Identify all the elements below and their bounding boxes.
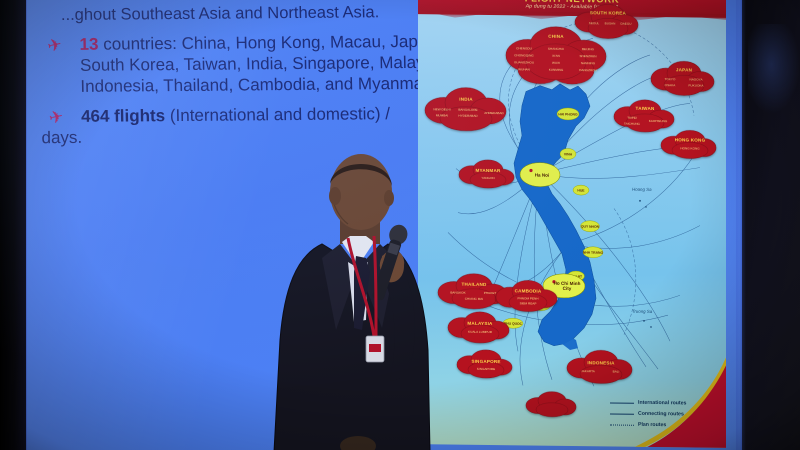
cloud-india: INDIA NEW DELHI MUMBAI BANGALORE HYDERAB… <box>425 87 506 131</box>
cloud-hong-kong: HONG KONG HONG KONG <box>661 130 716 159</box>
svg-text:DAEGU: DAEGU <box>620 22 631 26</box>
svg-text:CHONGQING: CHONGQING <box>514 53 534 57</box>
svg-text:KUALA LUMPUR: KUALA LUMPUR <box>468 330 493 334</box>
svg-text:MUMBAI: MUMBAI <box>436 113 449 117</box>
cloud-singapore: SINGAPORE SINGAPORE <box>457 350 512 379</box>
svg-text:SIEM REAP: SIEM REAP <box>520 301 537 305</box>
svg-text:SHANGHAI: SHANGHAI <box>548 47 564 51</box>
svg-text:CAMBODIA: CAMBODIA <box>515 288 542 293</box>
cloud-japan: JAPAN TOKYO OSAKA NAGOYA FUKUOKA <box>651 61 714 96</box>
svg-text:PHUKET: PHUKET <box>484 291 497 295</box>
wall-light-glow <box>748 24 800 114</box>
svg-text:GUANGZHOU: GUANGZHOU <box>514 60 534 64</box>
svg-text:INDIA: INDIA <box>459 97 473 102</box>
svg-text:MALAYSIA: MALAYSIA <box>467 321 493 326</box>
city-hue: HUE <box>573 185 589 195</box>
flight-network-map: FLIGHT NETWORK Ap dung tu 2022 - Availab… <box>418 0 726 448</box>
corner-swoosh-decoration <box>596 340 726 448</box>
svg-text:HONG KONG: HONG KONG <box>675 137 706 142</box>
svg-text:CHENGDU: CHENGDU <box>516 46 532 50</box>
svg-text:CHINA: CHINA <box>548 34 564 39</box>
svg-text:VINH: VINH <box>564 152 573 156</box>
svg-text:WUXI: WUXI <box>552 61 560 65</box>
svg-text:TAIWAN: TAIWAN <box>636 106 655 111</box>
cloud-myanmar: MYANMAR YANGON <box>459 160 514 189</box>
svg-text:BANGALORE: BANGALORE <box>458 108 477 112</box>
svg-text:BEIJING: BEIJING <box>582 47 595 51</box>
svg-text:NAGOYA: NAGOYA <box>689 77 703 81</box>
dark-room-left <box>0 0 26 450</box>
svg-text:SEOUL: SEOUL <box>589 21 600 25</box>
svg-text:NANNING: NANNING <box>581 61 596 65</box>
speaker-figure <box>262 140 462 450</box>
svg-text:KAOHSIUNG: KAOHSIUNG <box>649 119 668 123</box>
presentation-photo: the route network ...ghout Southeast Asi… <box>0 0 800 450</box>
city-hai-phong: HAI PHONG <box>557 108 579 120</box>
hub-ha-noi: Ha Noi <box>520 162 560 186</box>
svg-text:WUHAN: WUHAN <box>518 67 530 71</box>
svg-text:KUNMING: KUNMING <box>549 68 564 72</box>
svg-text:FUKUOKA: FUKUOKA <box>689 83 705 87</box>
svg-text:TAIPEI: TAIPEI <box>627 116 637 120</box>
svg-text:XI'AN: XI'AN <box>552 54 560 58</box>
svg-text:AHMEDABAD: AHMEDABAD <box>484 111 504 115</box>
cloud-china: CHINA CHENGDU CHONGQING GUANGZHOU WUHAN … <box>506 26 606 84</box>
svg-text:OSAKA: OSAKA <box>665 83 677 87</box>
svg-text:City: City <box>563 286 572 291</box>
svg-text:NHA TRANG: NHA TRANG <box>583 251 604 255</box>
svg-text:SINGAPORE: SINGAPORE <box>477 367 495 371</box>
svg-text:HANGZHOU: HANGZHOU <box>579 68 597 72</box>
svg-text:YANGON: YANGON <box>481 176 494 180</box>
svg-text:JAKARTA: JAKARTA <box>581 369 596 373</box>
svg-text:CHIANG MAI: CHIANG MAI <box>465 297 484 301</box>
svg-text:HYDERABAD: HYDERABAD <box>458 114 478 118</box>
svg-text:SHENZHEN: SHENZHEN <box>579 54 596 58</box>
svg-text:HAI PHONG: HAI PHONG <box>558 112 578 116</box>
svg-text:NEW DELHI: NEW DELHI <box>433 107 450 111</box>
svg-text:MYANMAR: MYANMAR <box>476 168 501 173</box>
svg-text:HONG KONG: HONG KONG <box>680 146 700 150</box>
svg-text:PHNOM PENH: PHNOM PENH <box>518 296 539 300</box>
svg-text:JAPAN: JAPAN <box>676 67 693 72</box>
svg-text:Hoang Sa: Hoang Sa <box>632 187 652 192</box>
svg-text:TAICHUNG: TAICHUNG <box>624 122 641 126</box>
cloud-extra-south <box>526 391 576 417</box>
svg-text:SOUTH KOREA: SOUTH KOREA <box>590 10 627 15</box>
svg-text:HUE: HUE <box>577 189 585 193</box>
city-quy-nhon: QUY NHON <box>581 221 600 232</box>
cloud-south-korea: SOUTH KOREA SEOUL BUSAN DAEGU <box>575 4 638 39</box>
svg-text:THAILAND: THAILAND <box>461 282 487 287</box>
svg-text:SINGAPORE: SINGAPORE <box>471 359 500 364</box>
sea-labels: Hoang Sa Truong Sa <box>632 187 653 328</box>
svg-text:TOKYO: TOKYO <box>665 77 676 81</box>
svg-text:QUY NHON: QUY NHON <box>581 225 600 229</box>
svg-text:Ha Noi: Ha Noi <box>535 173 550 178</box>
svg-text:BUSAN: BUSAN <box>605 21 616 25</box>
city-vinh: VINH <box>560 148 576 159</box>
svg-text:Truong Sa: Truong Sa <box>632 309 653 314</box>
